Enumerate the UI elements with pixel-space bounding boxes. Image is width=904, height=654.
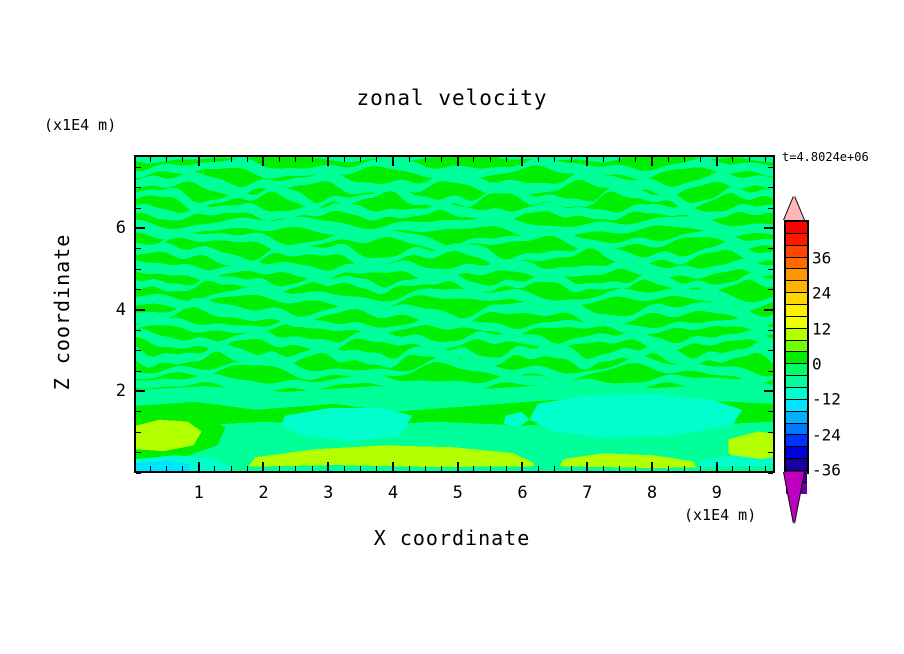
y-tick-right [768, 330, 773, 331]
x-tick-top [700, 157, 701, 162]
x-tick-minor [554, 466, 555, 471]
y-tick-minor [136, 371, 141, 372]
x-tick-top [651, 157, 653, 166]
colorbar-band [786, 317, 807, 329]
x-tick-minor [134, 466, 135, 471]
colorbar-band [786, 305, 807, 317]
colorbar-tick-label: -36 [812, 460, 841, 479]
y-tick-minor [136, 452, 141, 453]
x-tick-top [473, 157, 474, 162]
colorbar-band [786, 400, 807, 412]
horizontal-axis-unit-label: (x1E4 m) [684, 506, 756, 524]
y-tick-minor [136, 289, 141, 290]
x-tick-top [214, 157, 215, 162]
y-tick-right [768, 371, 773, 372]
x-tick-top [134, 157, 135, 162]
y-tick-label: 4 [100, 300, 126, 320]
y-tick-minor [136, 330, 141, 331]
x-tick-label: 5 [453, 483, 463, 503]
y-tick-minor [136, 350, 141, 351]
colorbar-band [786, 388, 807, 400]
x-tick-minor [150, 466, 151, 471]
colorbar-tick-label: 36 [812, 249, 831, 268]
colorbar-band [786, 246, 807, 258]
y-tick-right [764, 309, 773, 311]
x-tick-top [619, 157, 620, 162]
x-tick-minor [166, 466, 167, 471]
colorbar-band [786, 447, 807, 459]
y-tick-minor [136, 187, 141, 188]
x-tick-top [635, 157, 636, 162]
colorbar-band [786, 293, 807, 305]
x-tick-minor [231, 466, 232, 471]
x-tick-major [716, 462, 718, 471]
colorbar-top-arrow-cap [784, 196, 804, 220]
colorbar-band [786, 222, 807, 234]
colorbar [784, 220, 809, 474]
x-tick-minor [700, 466, 701, 471]
x-tick-top [247, 157, 248, 162]
colorbar-bottom-arrow-cap [784, 472, 804, 524]
colorbar-band [786, 459, 807, 471]
x-tick-label: 9 [712, 483, 722, 503]
x-tick-top [586, 157, 588, 166]
colorbar-tick-label: 12 [812, 319, 831, 338]
colorbar-band [786, 435, 807, 447]
x-tick-top [457, 157, 459, 166]
y-tick-right [768, 411, 773, 412]
colorbar-band [786, 258, 807, 270]
colorbar-band [786, 329, 807, 341]
x-tick-minor [684, 466, 685, 471]
colorbar-band [786, 352, 807, 364]
x-tick-top [262, 157, 264, 166]
y-tick-right [768, 432, 773, 433]
y-tick-minor [136, 269, 141, 270]
x-tick-top [441, 157, 442, 162]
contour-field [136, 157, 773, 471]
timestamp-annotation: t=4.8024e+06 [782, 150, 869, 164]
x-tick-minor [635, 466, 636, 471]
x-tick-top [571, 157, 572, 162]
x-tick-minor [214, 466, 215, 471]
y-tick-label: 2 [100, 381, 126, 401]
x-tick-minor [376, 466, 377, 471]
colorbar-band [786, 281, 807, 293]
y-tick-minor [136, 411, 141, 412]
x-tick-top [554, 157, 555, 162]
colorbar-band [786, 269, 807, 281]
x-tick-minor [247, 466, 248, 471]
y-axis-title: Z coordinate [50, 212, 74, 412]
x-tick-top [603, 157, 604, 162]
x-tick-top [684, 157, 685, 162]
x-tick-minor [409, 466, 410, 471]
y-tick-right [768, 248, 773, 249]
x-tick-minor [182, 466, 183, 471]
colorbar-band [786, 412, 807, 424]
x-tick-top [749, 157, 750, 162]
x-axis-title: X coordinate [0, 526, 904, 550]
colorbar-band [786, 341, 807, 353]
y-tick-major [136, 309, 145, 311]
x-tick-minor [279, 466, 280, 471]
x-tick-minor [506, 466, 507, 471]
colorbar-tick-label: 0 [812, 354, 822, 373]
x-tick-label: 1 [194, 483, 204, 503]
colorbar-band [786, 424, 807, 436]
colorbar-band [786, 364, 807, 376]
x-tick-top [150, 157, 151, 162]
x-tick-top [295, 157, 296, 162]
contour-plot-area [134, 155, 775, 473]
x-tick-label: 7 [582, 483, 592, 503]
x-tick-major [457, 462, 459, 471]
x-tick-top [231, 157, 232, 162]
x-tick-top [765, 157, 766, 162]
x-tick-minor [441, 466, 442, 471]
y-tick-minor [136, 473, 141, 474]
y-tick-right [768, 289, 773, 290]
colorbar-tick-label: -24 [812, 425, 841, 444]
x-tick-top [506, 157, 507, 162]
x-tick-top [490, 157, 491, 162]
x-tick-top [344, 157, 345, 162]
x-tick-minor [668, 466, 669, 471]
x-tick-top [166, 157, 167, 162]
x-tick-major [521, 462, 523, 471]
x-tick-major [392, 462, 394, 471]
x-tick-top [538, 157, 539, 162]
x-tick-major [586, 462, 588, 471]
y-tick-minor [136, 167, 141, 168]
y-tick-right [768, 452, 773, 453]
y-tick-minor [136, 248, 141, 249]
colorbar-tick-label: -12 [812, 390, 841, 409]
x-tick-major [262, 462, 264, 471]
y-tick-right [768, 269, 773, 270]
x-tick-major [651, 462, 653, 471]
y-tick-right [768, 187, 773, 188]
x-tick-top [312, 157, 313, 162]
y-tick-right [768, 350, 773, 351]
x-tick-label: 3 [323, 483, 333, 503]
x-tick-label: 6 [517, 483, 527, 503]
y-tick-right [768, 208, 773, 209]
x-tick-minor [295, 466, 296, 471]
page-title: zonal velocity [0, 86, 904, 110]
colorbar-band [786, 234, 807, 246]
y-tick-minor [136, 432, 141, 433]
x-tick-label: 4 [388, 483, 398, 503]
x-tick-top [732, 157, 733, 162]
x-tick-minor [473, 466, 474, 471]
y-tick-right [768, 473, 773, 474]
x-tick-top [279, 157, 280, 162]
x-tick-top [376, 157, 377, 162]
x-tick-top [716, 157, 718, 166]
y-tick-major [136, 390, 145, 392]
x-tick-minor [571, 466, 572, 471]
y-tick-label: 6 [100, 218, 126, 238]
x-tick-minor [312, 466, 313, 471]
x-tick-top [409, 157, 410, 162]
x-tick-top [668, 157, 669, 162]
x-tick-minor [749, 466, 750, 471]
x-tick-major [327, 462, 329, 471]
y-tick-right [764, 390, 773, 392]
x-tick-minor [425, 466, 426, 471]
x-tick-minor [360, 466, 361, 471]
x-tick-minor [538, 466, 539, 471]
x-tick-top [392, 157, 394, 166]
x-tick-minor [619, 466, 620, 471]
x-tick-top [198, 157, 200, 166]
x-tick-major [198, 462, 200, 471]
x-tick-minor [603, 466, 604, 471]
x-tick-minor [344, 466, 345, 471]
y-tick-minor [136, 208, 141, 209]
colorbar-band [786, 376, 807, 388]
x-tick-top [182, 157, 183, 162]
x-tick-minor [765, 466, 766, 471]
y-tick-right [764, 227, 773, 229]
x-tick-label: 8 [647, 483, 657, 503]
x-tick-top [327, 157, 329, 166]
x-tick-minor [732, 466, 733, 471]
x-tick-label: 2 [258, 483, 268, 503]
colorbar-tick-label: 24 [812, 284, 831, 303]
x-tick-minor [490, 466, 491, 471]
x-tick-top [425, 157, 426, 162]
x-tick-top [360, 157, 361, 162]
x-tick-top [521, 157, 523, 166]
vertical-axis-unit-label: (x1E4 m) [44, 116, 116, 134]
y-tick-major [136, 227, 145, 229]
y-tick-right [768, 167, 773, 168]
